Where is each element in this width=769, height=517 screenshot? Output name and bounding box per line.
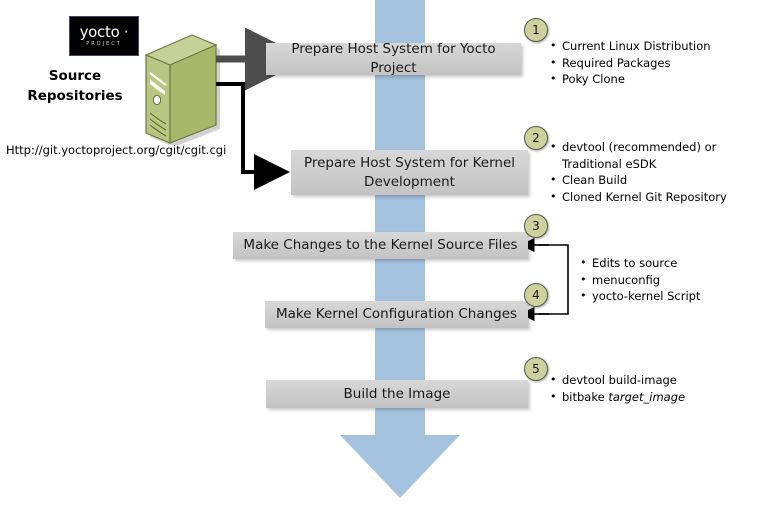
step-badge-number: 4 — [532, 288, 540, 302]
step-badge-number: 5 — [532, 362, 540, 376]
list-item: devtool build-image — [550, 372, 760, 389]
process-box-prepare-host-yocto[interactable]: Prepare Host System for Yocto Project — [266, 43, 521, 75]
list-item: Cloned Kernel Git Repository — [550, 189, 762, 206]
yocto-project-logo: yocto · PROJECT — [69, 16, 139, 56]
process-box-make-config-changes[interactable]: Make Kernel Configuration Changes — [265, 301, 528, 328]
step-badge-1: 1 — [524, 18, 548, 42]
source-repositories-label: Source Repositories — [10, 66, 140, 106]
step-2-bullet-list: devtool (recommended) or Traditional eSD… — [550, 139, 762, 205]
list-item: Poky Clone — [550, 71, 760, 88]
process-box-label: Make Kernel Configuration Changes — [276, 305, 517, 324]
steps-3-4-bullet-list: Edits to source menuconfig yocto-kernel … — [580, 255, 760, 305]
list-item: bitbake target_image — [550, 389, 760, 406]
step-badge-2: 2 — [524, 126, 548, 150]
step-badge-number: 2 — [532, 131, 540, 145]
step-badge-number: 1 — [532, 23, 540, 37]
process-box-prepare-host-kernel[interactable]: Prepare Host System for Kernel Developme… — [291, 150, 528, 195]
list-item: Required Packages — [550, 55, 760, 72]
list-item: yocto-kernel Script — [580, 288, 760, 305]
step-badge-4: 4 — [524, 283, 548, 307]
command-prefix: bitbake — [562, 390, 608, 404]
list-item: Edits to source — [580, 255, 760, 272]
process-box-build-image[interactable]: Build the Image — [266, 380, 528, 408]
server-tower-icon — [132, 33, 220, 145]
list-item: devtool (recommended) or Traditional eSD… — [550, 139, 762, 172]
source-label-line1: Source — [10, 66, 140, 86]
diagram-canvas: yocto · PROJECT Source Repositories Http… — [0, 0, 769, 517]
step-5-bullet-list: devtool build-image bitbake target_image — [550, 372, 760, 405]
list-item: Clean Build — [550, 172, 762, 189]
step-badge-5: 5 — [524, 357, 548, 381]
source-label-line2: Repositories — [10, 86, 140, 106]
process-box-label: Make Changes to the Kernel Source Files — [243, 236, 517, 255]
list-item: Current Linux Distribution — [550, 38, 760, 55]
logo-wordmark: yocto · — [80, 25, 129, 40]
step-1-bullet-list: Current Linux Distribution Required Pack… — [550, 38, 760, 88]
list-item: menuconfig — [580, 272, 760, 289]
command-argument: target_image — [608, 390, 685, 404]
step-badge-number: 3 — [532, 219, 540, 233]
repository-url: Http://git.yoctoproject.org/cgit/cgit.cg… — [6, 143, 226, 157]
process-box-label: Prepare Host System for Kernel Developme… — [299, 154, 520, 192]
process-box-label: Build the Image — [344, 385, 451, 404]
process-box-make-source-changes[interactable]: Make Changes to the Kernel Source Files — [233, 232, 528, 259]
process-box-label: Prepare Host System for Yocto Project — [274, 40, 513, 78]
step-badge-3: 3 — [524, 214, 548, 238]
logo-subtitle: PROJECT — [86, 41, 122, 48]
